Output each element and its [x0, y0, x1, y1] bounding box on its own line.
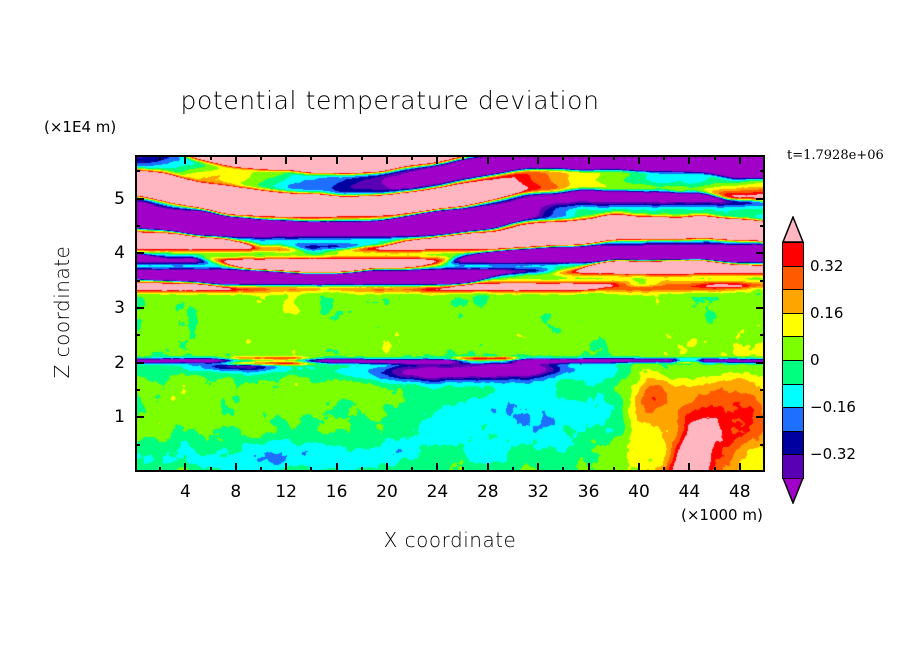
- x-tick-label: 36: [578, 482, 600, 502]
- colorbar-under-arrow: [782, 478, 804, 504]
- x-tick-major: [336, 463, 338, 472]
- x-tick-major: [688, 463, 690, 472]
- x-tick-minor: [663, 467, 665, 472]
- x-tick-minor: [512, 467, 514, 472]
- x-tick-minor: [411, 467, 413, 472]
- colorbar-band: [782, 289, 804, 314]
- colorbar-over-arrow: [782, 216, 804, 242]
- x-tick-minor: [210, 467, 212, 472]
- x-tick-minor-top: [159, 155, 161, 160]
- x-tick-major-top: [688, 155, 690, 164]
- colorbar[interactable]: 0.320.160−0.16−0.32: [782, 216, 804, 504]
- colorbar-band: [782, 384, 804, 409]
- x-tick-label: 28: [477, 482, 499, 502]
- x-tick-minor-top: [462, 155, 464, 160]
- colorbar-tick-label: 0.16: [810, 304, 843, 322]
- colorbar-tick-label: −0.32: [810, 445, 856, 463]
- colorbar-band: [782, 407, 804, 432]
- x-tick-minor-top: [562, 155, 564, 160]
- timestamp-annotation: t=1.7928e+06: [787, 148, 884, 163]
- colorbar-tick-label: 0.32: [810, 257, 843, 275]
- colorbar-tick-label: 0: [810, 351, 820, 369]
- y-tick-major: [135, 198, 144, 200]
- y-tick-label: 4: [97, 243, 125, 263]
- x-tick-major: [537, 463, 539, 472]
- colorbar-band: [782, 431, 804, 456]
- x-tick-label: 12: [275, 482, 297, 502]
- y-tick-major: [135, 416, 144, 418]
- x-axis-unit-label: (×1000 m): [681, 506, 763, 524]
- y-tick-minor-right: [760, 170, 765, 172]
- x-tick-major-top: [588, 155, 590, 164]
- x-tick-major: [235, 463, 237, 472]
- x-tick-major: [739, 463, 741, 472]
- x-tick-label: 48: [729, 482, 751, 502]
- y-tick-major: [135, 252, 144, 254]
- y-tick-minor-right: [760, 225, 765, 227]
- x-tick-minor: [310, 467, 312, 472]
- y-tick-minor-right: [760, 444, 765, 446]
- x-axis-title: X coordinate: [135, 528, 765, 552]
- x-tick-major-top: [184, 155, 186, 164]
- page-title: potential temperature deviation: [0, 86, 780, 115]
- x-tick-label: 44: [679, 482, 701, 502]
- colorbar-band: [782, 313, 804, 338]
- y-tick-minor: [135, 389, 140, 391]
- x-tick-minor: [159, 467, 161, 472]
- colorbar-band: [782, 266, 804, 291]
- x-tick-minor-top: [714, 155, 716, 160]
- y-tick-major-right: [756, 307, 765, 309]
- x-tick-major: [285, 463, 287, 472]
- x-tick-label: 4: [180, 482, 191, 502]
- x-tick-major-top: [386, 155, 388, 164]
- x-tick-major-top: [739, 155, 741, 164]
- x-tick-major-top: [235, 155, 237, 164]
- y-axis-unit-label: (×1E4 m): [44, 118, 116, 136]
- y-tick-minor-right: [760, 280, 765, 282]
- x-tick-label: 32: [527, 482, 549, 502]
- y-tick-label: 3: [97, 298, 125, 318]
- x-tick-minor-top: [613, 155, 615, 160]
- y-tick-major: [135, 307, 144, 309]
- colorbar-band: [782, 242, 804, 267]
- x-tick-minor-top: [210, 155, 212, 160]
- x-tick-major: [588, 463, 590, 472]
- x-tick-label: 40: [628, 482, 650, 502]
- x-tick-minor-top: [260, 155, 262, 160]
- x-tick-minor-top: [512, 155, 514, 160]
- y-tick-minor: [135, 170, 140, 172]
- x-tick-major: [436, 463, 438, 472]
- x-tick-minor: [361, 467, 363, 472]
- x-tick-label: 24: [427, 482, 449, 502]
- x-tick-major-top: [285, 155, 287, 164]
- x-tick-major: [638, 463, 640, 472]
- colorbar-tick-label: −0.16: [810, 398, 856, 416]
- y-tick-minor: [135, 280, 140, 282]
- colorbar-band: [782, 454, 804, 479]
- x-tick-label: 8: [230, 482, 241, 502]
- y-axis-title: Z coordinate: [50, 222, 74, 402]
- y-tick-label: 2: [97, 353, 125, 373]
- x-tick-minor: [714, 467, 716, 472]
- y-tick-minor-right: [760, 334, 765, 336]
- y-tick-major-right: [756, 252, 765, 254]
- x-tick-major: [386, 463, 388, 472]
- y-tick-major-right: [756, 362, 765, 364]
- y-tick-major: [135, 362, 144, 364]
- x-tick-minor: [462, 467, 464, 472]
- y-tick-major-right: [756, 416, 765, 418]
- y-tick-label: 1: [97, 407, 125, 427]
- colorbar-band: [782, 336, 804, 361]
- x-tick-major-top: [336, 155, 338, 164]
- x-tick-minor: [613, 467, 615, 472]
- x-tick-major-top: [537, 155, 539, 164]
- y-tick-major-right: [756, 198, 765, 200]
- x-tick-label: 20: [376, 482, 398, 502]
- x-tick-major-top: [638, 155, 640, 164]
- contour-field-canvas: [137, 157, 763, 470]
- x-tick-major-top: [487, 155, 489, 164]
- x-tick-major: [487, 463, 489, 472]
- y-tick-minor: [135, 444, 140, 446]
- y-tick-minor: [135, 334, 140, 336]
- x-tick-label: 16: [326, 482, 348, 502]
- x-tick-major: [184, 463, 186, 472]
- x-tick-minor: [260, 467, 262, 472]
- x-tick-minor: [562, 467, 564, 472]
- y-tick-minor: [135, 225, 140, 227]
- x-tick-minor-top: [361, 155, 363, 160]
- x-tick-minor-top: [310, 155, 312, 160]
- colorbar-band: [782, 360, 804, 385]
- x-tick-major-top: [436, 155, 438, 164]
- x-tick-minor-top: [411, 155, 413, 160]
- x-tick-minor-top: [663, 155, 665, 160]
- contour-plot-area[interactable]: [135, 155, 765, 472]
- y-tick-minor-right: [760, 389, 765, 391]
- y-tick-label: 5: [97, 189, 125, 209]
